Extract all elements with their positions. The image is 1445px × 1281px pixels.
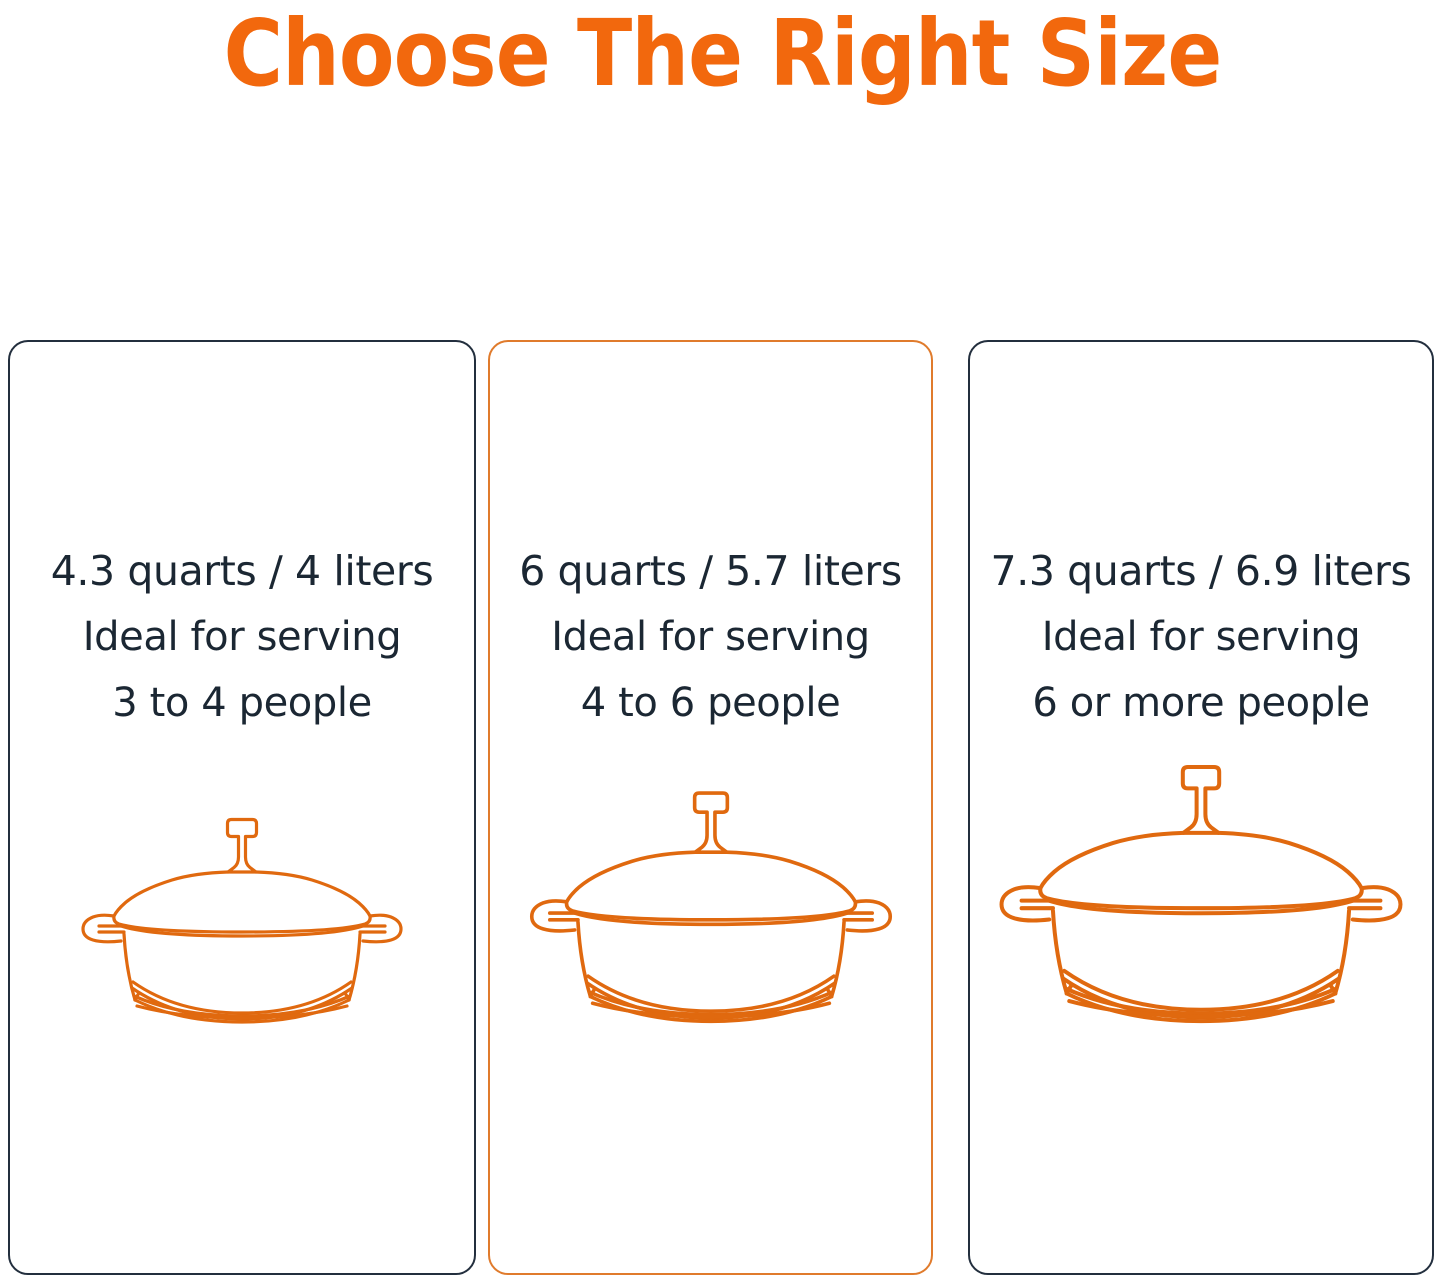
capacity-label: 6 quarts / 5.7 liters — [490, 538, 931, 604]
dutch-oven-pot-icon — [970, 755, 1432, 1025]
serving-intro-label: Ideal for serving — [490, 604, 931, 670]
size-card-medium[interactable]: 6 quarts / 5.7 liters Ideal for serving … — [488, 340, 933, 1275]
size-card-large-text: 7.3 quarts / 6.9 liters Ideal for servin… — [970, 538, 1432, 736]
serving-count-label: 3 to 4 people — [10, 670, 474, 736]
dutch-oven-pot-icon — [10, 810, 474, 1025]
serving-intro-label: Ideal for serving — [10, 604, 474, 670]
dutch-oven-pot-icon — [490, 782, 931, 1025]
size-card-large[interactable]: 7.3 quarts / 6.9 liters Ideal for servin… — [968, 340, 1434, 1275]
size-cards-row: 4.3 quarts / 4 liters Ideal for serving … — [0, 340, 1445, 1277]
serving-count-label: 6 or more people — [970, 670, 1432, 736]
page-title: Choose The Right Size — [87, 0, 1359, 110]
size-card-small-text: 4.3 quarts / 4 liters Ideal for serving … — [10, 538, 474, 736]
capacity-label: 4.3 quarts / 4 liters — [10, 538, 474, 604]
size-card-medium-text: 6 quarts / 5.7 liters Ideal for serving … — [490, 538, 931, 736]
capacity-label: 7.3 quarts / 6.9 liters — [970, 538, 1432, 604]
size-card-small[interactable]: 4.3 quarts / 4 liters Ideal for serving … — [8, 340, 476, 1275]
serving-intro-label: Ideal for serving — [970, 604, 1432, 670]
serving-count-label: 4 to 6 people — [490, 670, 931, 736]
